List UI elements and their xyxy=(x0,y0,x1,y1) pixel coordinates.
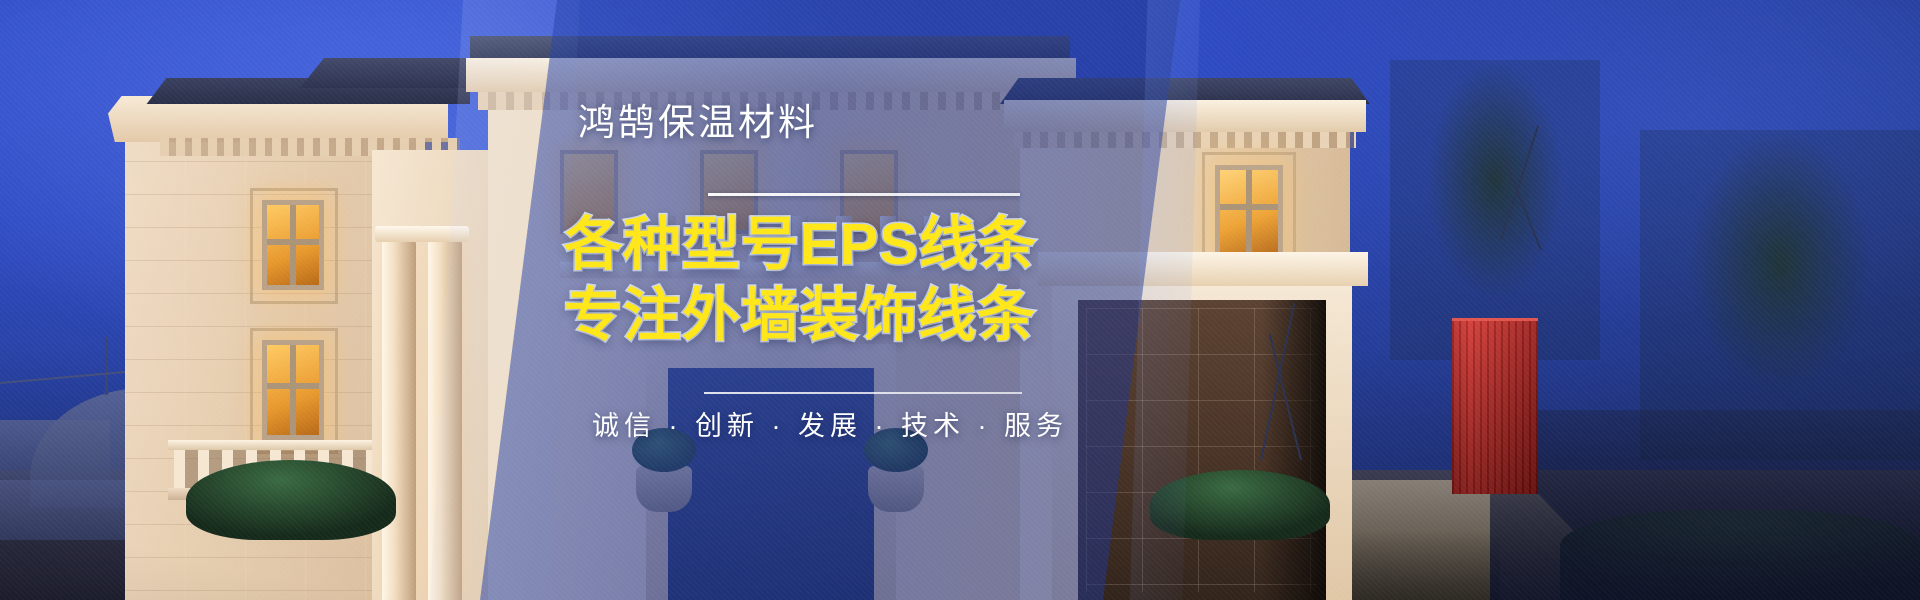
window-muntin-vertical xyxy=(290,205,296,285)
column-1 xyxy=(382,240,416,600)
tree-right-1 xyxy=(1390,60,1600,360)
container-shading xyxy=(1452,321,1538,494)
shrub-center-right xyxy=(1150,470,1330,540)
divider-line-top xyxy=(708,193,1020,196)
column-capital xyxy=(421,226,469,242)
window-muntin-vertical xyxy=(1246,170,1252,252)
right-dark-foliage-mass xyxy=(1490,410,1920,600)
lit-window-6 xyxy=(1215,165,1283,257)
red-shipping-container xyxy=(1452,318,1538,494)
headline: 各种型号EPS线条 专注外墙装饰线条 xyxy=(564,210,1164,352)
column-2 xyxy=(428,240,462,600)
tagline: 诚信 · 创新 · 发展 · 技术 · 服务 xyxy=(592,404,1172,443)
shrub-left xyxy=(186,460,396,540)
brand-name: 鸿鹄保温材料 xyxy=(578,100,818,146)
banner-copy: 鸿鹄保温材料 各种型号EPS线条 专注外墙装饰线条 诚信 · 创新 · 发展 ·… xyxy=(556,0,1176,600)
lit-window-1 xyxy=(262,200,324,290)
headline-line-1: 各种型号EPS线条 xyxy=(564,210,1164,281)
window-muntin-horizontal xyxy=(267,239,319,245)
lit-window-2 xyxy=(262,340,324,440)
banner-hero: 鸿鹄保温材料 各种型号EPS线条 专注外墙装饰线条 诚信 · 创新 · 发展 ·… xyxy=(0,0,1920,600)
window-muntin-horizontal xyxy=(1220,204,1278,210)
window-muntin-horizontal xyxy=(267,383,319,389)
window-muntin-vertical xyxy=(290,345,296,435)
headline-line-2: 专注外墙装饰线条 xyxy=(564,281,1164,352)
column-capital xyxy=(375,226,423,242)
divider-line-bottom xyxy=(704,392,1022,394)
